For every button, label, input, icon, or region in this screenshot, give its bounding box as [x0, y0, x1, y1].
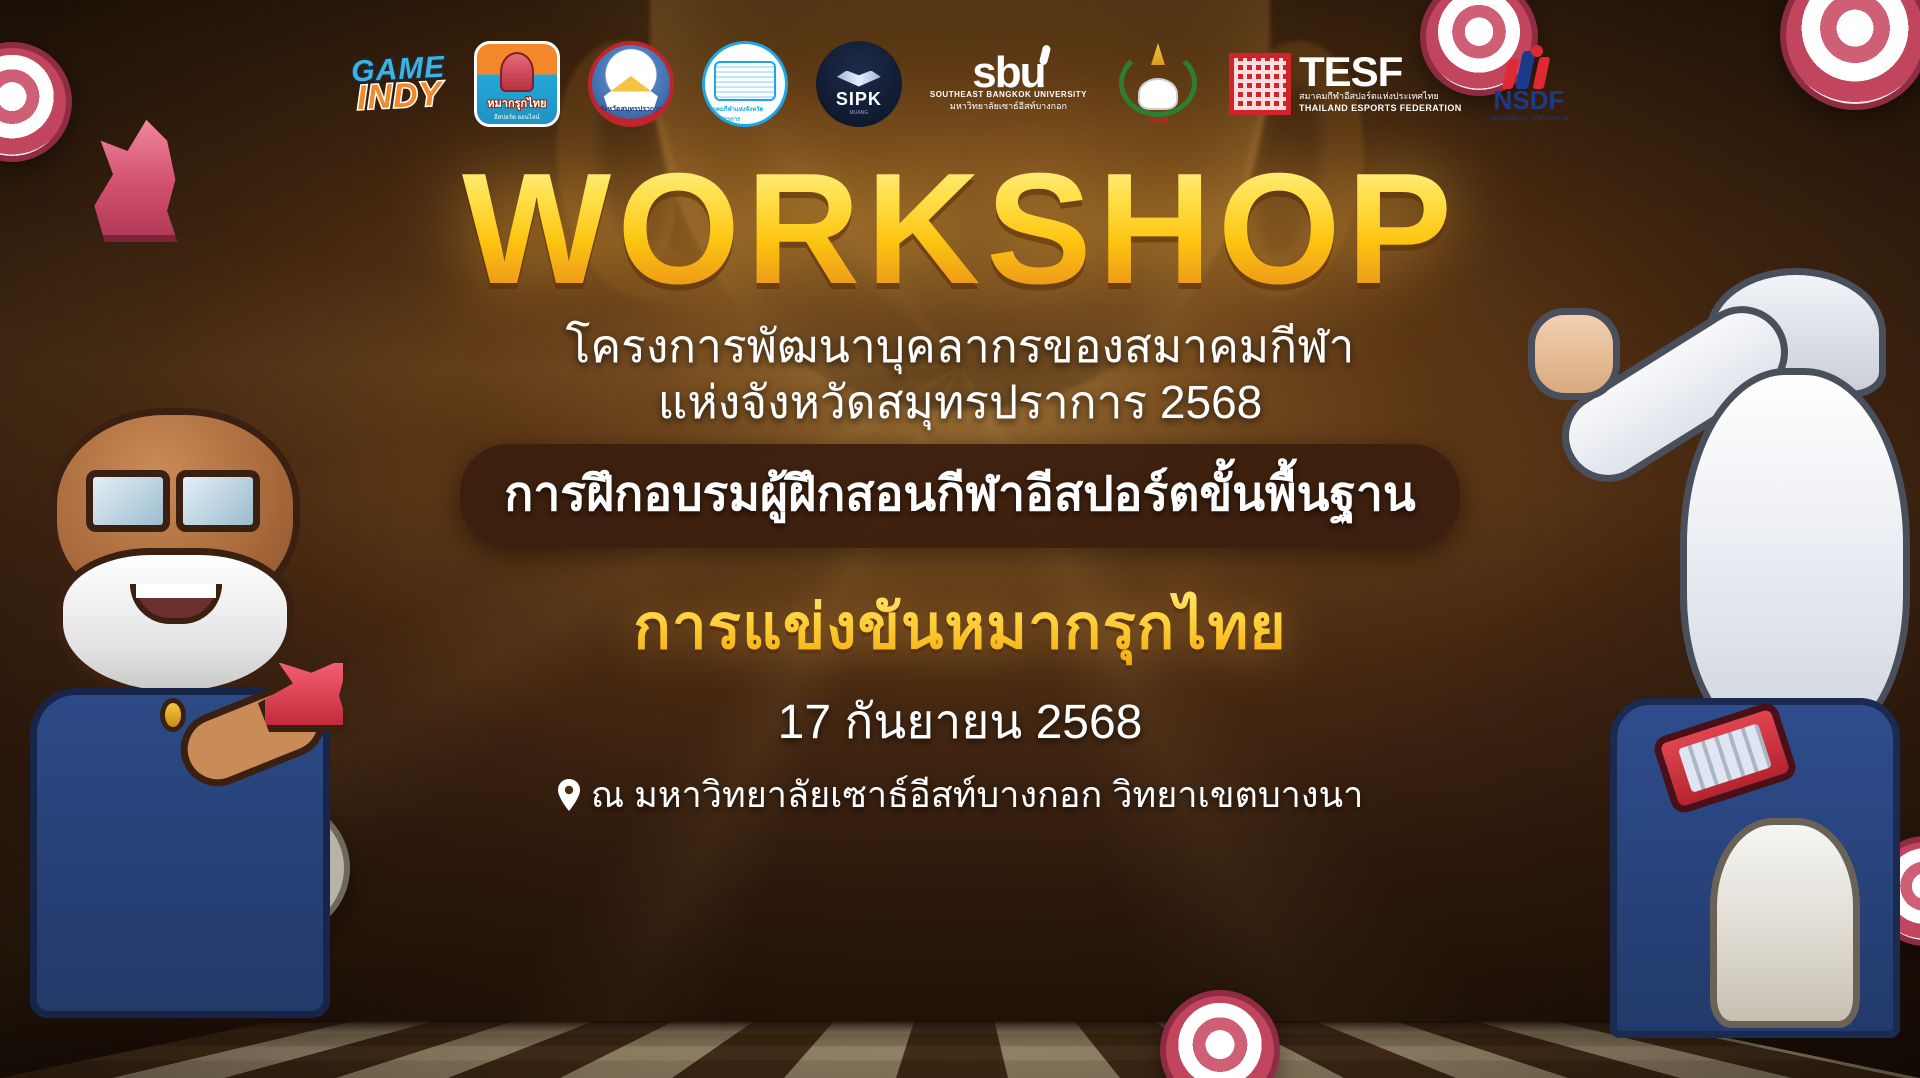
logo-samutprakan-seal: จังหวัดสมุทรปราการ [588, 41, 674, 127]
temple-line-art-icon [714, 61, 776, 101]
eagle-wing-icon [837, 71, 881, 87]
logo-sbu-subtitle-th: มหาวิทยาลัยเซาธ์อีสท์บางกอก [950, 99, 1067, 113]
logo-game-indy-line2: INDY [356, 80, 443, 112]
logo-tesf-subtitle-en: THAILAND ESPORTS FEDERATION [1299, 103, 1462, 113]
logo-nsdf-title: NSDF [1493, 89, 1564, 112]
logo-tesf: TESF สมาคมกีฬาอีสปอร์ตแห่งประเทศไทย THAI… [1229, 53, 1462, 115]
logo-sipk-subtitle: MUANG [850, 110, 869, 116]
logo-sports-assoc-caption: สมาคมกีฬาแห่งจังหวัดสมุทรปราการ [705, 104, 785, 124]
logo-provincial-sports-association: สมาคมกีฬาแห่งจังหวัดสมุทรปราการ [702, 41, 788, 127]
makruk-king-piece-icon [500, 52, 534, 92]
laurel-wreath-icon [1119, 49, 1197, 117]
logo-nsdf: NSDF กองทุนพัฒนาการกีฬาแห่งชาติ [1490, 45, 1569, 122]
logo-nsdf-subtitle-th: กองทุนพัฒนาการกีฬาแห่งชาติ [1490, 113, 1569, 123]
logo-kkm: กกท [1115, 41, 1201, 127]
nsdf-mark-icon [1503, 45, 1555, 89]
checker-piece-decor [1160, 990, 1280, 1078]
logo-makruk-subtitle: อีสปอร์ต ออนไลน์ [494, 112, 540, 122]
course-banner: การฝึกอบรมผู้ฝึกสอนกีฬาอีสปอร์ตขั้นพื้นฐ… [460, 444, 1459, 548]
subtitle-block: โครงการพัฒนาบุคลากรของสมาคมกีฬา แห่งจังห… [0, 318, 1920, 430]
location-pin-icon [557, 779, 581, 811]
logo-kkm-caption: กกท [1148, 111, 1169, 129]
poster-content: WORKSHOP โครงการพัฒนาบุคลากรของสมาคมกีฬา… [0, 150, 1920, 823]
logo-samutprakan-caption: จังหวัดสมุทรปราการ [600, 104, 662, 115]
logo-tesf-subtitle-th: สมาคมกีฬาอีสปอร์ตแห่งประเทศไทย [1299, 89, 1462, 103]
event-venue-label: ณ มหาวิทยาลัยเซาธ์อีสท์บางกอก วิทยาเขตบา… [591, 766, 1364, 823]
logo-makruk-thai: หมากรุกไทย อีสปอร์ต ออนไลน์ [474, 41, 560, 127]
logo-game-indy: GAME INDY [351, 55, 448, 112]
workshop-poster: GAME INDY หมากรุกไทย อีสปอร์ต ออนไลน์ จั… [0, 0, 1920, 1078]
course-banner-label: การฝึกอบรมผู้ฝึกสอนกีฬาอีสปอร์ตขั้นพื้นฐ… [504, 468, 1415, 521]
event-venue-row: ณ มหาวิทยาลัยเซาธ์อีสท์บางกอก วิทยาเขตบา… [0, 766, 1920, 823]
logo-sipk-title: SIPK [836, 89, 882, 110]
logo-sbu: sbu SOUTHEAST BANGKOK UNIVERSITY มหาวิทย… [930, 55, 1087, 113]
logo-makruk-title: หมากรุกไทย [487, 94, 546, 112]
page-title: WORKSHOP [0, 150, 1920, 308]
subtitle-line-1: โครงการพัฒนาบุคลากรของสมาคมกีฬา [0, 318, 1920, 374]
tesf-mark-icon [1229, 53, 1291, 115]
sponsor-logo-bar: GAME INDY หมากรุกไทย อีสปอร์ต ออนไลน์ จั… [0, 32, 1920, 136]
logo-sbu-title: sbu [972, 55, 1044, 90]
logo-sipk: SIPK MUANG [816, 41, 902, 127]
subtitle-line-2: แห่งจังหวัดสมุทรปราการ 2568 [0, 374, 1920, 430]
event-date: 17 กันยายน 2568 [0, 684, 1920, 760]
logo-tesf-title: TESF [1299, 55, 1462, 89]
event-title: การแข่งขันหมากรุกไทย [0, 578, 1920, 676]
